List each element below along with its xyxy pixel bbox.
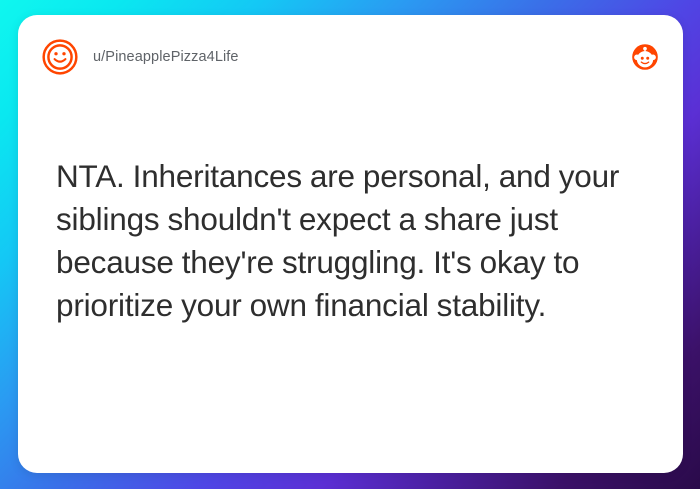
gradient-background: u/PineapplePizza4Life NTA. Inheritances …	[0, 0, 700, 489]
post-body: NTA. Inheritances are personal, and your…	[56, 155, 643, 327]
post-text: NTA. Inheritances are personal, and your…	[56, 155, 643, 327]
reddit-snoo-icon[interactable]	[629, 41, 661, 73]
username-label[interactable]: u/PineapplePizza4Life	[93, 49, 239, 65]
smiley-face-avatar-icon[interactable]	[41, 38, 79, 76]
post-header: u/PineapplePizza4Life	[18, 15, 683, 99]
reddit-post-card: u/PineapplePizza4Life NTA. Inheritances …	[18, 15, 683, 473]
